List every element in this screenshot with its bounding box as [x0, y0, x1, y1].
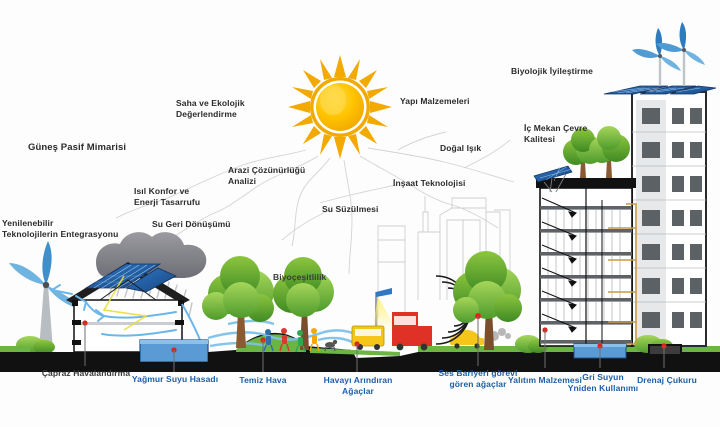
label-insaat-teknolojisi: İnşaat Teknolojisi [393, 178, 466, 189]
label-isil-konfor-enerji-tasarrufu: Isıl Konfor ve Enerji Tasarrufu [134, 186, 200, 208]
label-yagmur-suyu-hasadi: Yağmur Suyu Hasadı [126, 374, 224, 385]
infographic-canvas: Güneş Pasif Mimarisi Yenilenebilir Tekno… [0, 0, 720, 427]
label-drenaj-cukuru: Drenaj Çukuru [626, 375, 708, 386]
label-yapi-malzemeleri: Yapı Malzemeleri [400, 96, 470, 107]
rooftop-solar-panels [604, 86, 716, 94]
label-gunes-pasif-mimarisi: Güneş Pasif Mimarisi [28, 142, 126, 154]
truck [392, 312, 432, 350]
label-yenilenebilir-teknolojiler: Yenilenebilir Teknolojilerin Entegrasyon… [2, 218, 118, 240]
label-saha-ve-ekolojik-degerlendirme: Saha ve Ekolojik Değerlendirme [176, 98, 245, 120]
label-dogal-isik: Doğal Işık [440, 143, 481, 154]
label-biyolojik-iyilestirme: Biyolojik İyileştirme [511, 66, 593, 77]
label-ic-mekan-cevre-kalitesi: İç Mekan Çevre Kalitesi [524, 123, 587, 145]
label-biyocesitlilik: Biyoçeşitlilik [273, 272, 326, 283]
label-capraz-havalandirma: Çapraz Havalandırma [36, 368, 136, 379]
wind-turbine-left [9, 241, 82, 350]
rooftop-wind-turbines [632, 22, 705, 86]
label-temiz-hava: Temiz Hava [228, 375, 298, 386]
car [450, 328, 511, 349]
label-su-geri-donusumu: Su Geri Dönüşümü [152, 219, 231, 230]
label-havayi-arindiran-agaclar: Havayı Arındıran Ağaçlar [314, 375, 402, 397]
label-arazi-cozunurlugu-analizi: Arazi Çözünürlüğü Analizi [228, 165, 305, 187]
label-su-suzulmesi: Su Süzülmesi [322, 204, 378, 215]
sun-icon [288, 55, 392, 159]
